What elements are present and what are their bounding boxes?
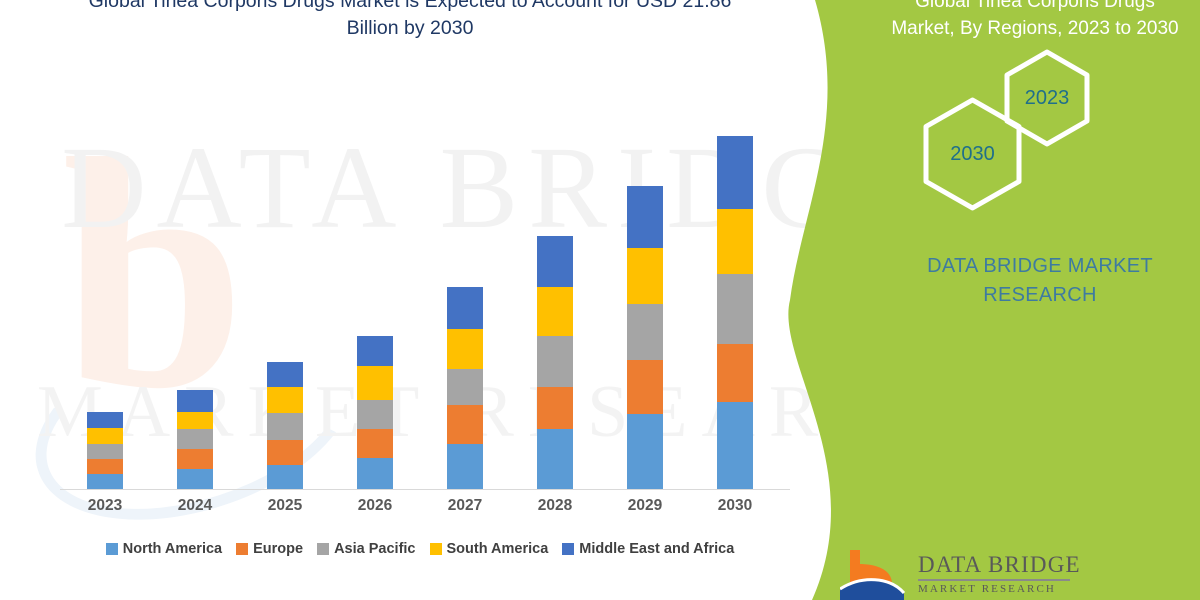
bar-segment [627, 304, 663, 360]
bar-column [150, 110, 240, 490]
brand-name-line-1: DATA BRIDGE MARKET [890, 252, 1190, 281]
brand-panel: Global Tinea Corporis Drugs Market, By R… [780, 0, 1200, 600]
bar-segment [717, 209, 753, 274]
databridge-logo-line-2: MARKET RESEARCH [918, 583, 1081, 595]
databridge-logo-mark [840, 548, 906, 600]
bar-column [60, 110, 150, 490]
databridge-logo-rule [918, 579, 1070, 581]
stacked-bar [177, 390, 213, 490]
brand-name-line-2: RESEARCH [890, 281, 1190, 310]
x-axis-tick-label: 2024 [150, 497, 240, 515]
bar-segment [717, 136, 753, 209]
bar-segment [357, 429, 393, 458]
bar-segment [267, 362, 303, 387]
x-axis-tick-label: 2027 [420, 497, 510, 515]
bar-column [240, 110, 330, 490]
legend-item[interactable]: Europe [236, 541, 303, 557]
bar-segment [267, 465, 303, 490]
stacked-bar [267, 362, 303, 490]
bar-column [510, 110, 600, 490]
bar-segment [177, 429, 213, 449]
legend-item[interactable]: South America [430, 541, 549, 557]
legend-label: Middle East and Africa [579, 541, 734, 557]
hexagon-start-year-label: 2023 [1002, 48, 1092, 148]
bar-segment [447, 329, 483, 369]
bar-segment [87, 428, 123, 444]
stacked-bar [627, 186, 663, 490]
bar-segment [357, 336, 393, 366]
stacked-bar [537, 236, 573, 490]
infographic-canvas: b DATA BRIDGE MARKET RESEARCH Global Tin… [0, 0, 1200, 600]
databridge-logo-line-1: DATA BRIDGE [918, 552, 1081, 578]
bar-segment [87, 444, 123, 459]
bar-segment [177, 449, 213, 469]
bar-segment [717, 402, 753, 490]
bar-segment [87, 412, 123, 428]
bar-group [60, 110, 780, 490]
x-axis-tick-label: 2028 [510, 497, 600, 515]
stacked-bar [357, 336, 393, 490]
bar-segment [537, 287, 573, 336]
bar-segment [177, 412, 213, 429]
bar-segment [627, 414, 663, 490]
databridge-logo: DATA BRIDGE MARKET RESEARCH [840, 548, 1160, 600]
legend-item[interactable]: Asia Pacific [317, 541, 415, 557]
legend-label: Europe [253, 541, 303, 557]
brand-name: DATA BRIDGE MARKET RESEARCH [890, 252, 1190, 310]
bar-segment [87, 474, 123, 490]
bar-segment [357, 458, 393, 490]
legend-item[interactable]: Middle East and Africa [562, 541, 734, 557]
legend-item[interactable]: North America [106, 541, 222, 557]
bar-segment [357, 366, 393, 400]
bar-segment [87, 459, 123, 474]
databridge-logo-text: DATA BRIDGE MARKET RESEARCH [918, 552, 1081, 595]
bar-segment [627, 248, 663, 304]
bar-segment [537, 236, 573, 287]
legend-swatch-icon [106, 543, 118, 555]
bar-segment [627, 186, 663, 248]
bar-segment [357, 400, 393, 429]
bar-column [330, 110, 420, 490]
x-axis-tick-label: 2026 [330, 497, 420, 515]
bar-segment [447, 444, 483, 490]
bar-column [600, 110, 690, 490]
chart-legend: North AmericaEuropeAsia PacificSouth Ame… [55, 541, 785, 557]
stacked-bar [717, 136, 753, 490]
bar-segment [447, 405, 483, 444]
legend-label: Asia Pacific [334, 541, 415, 557]
bar-column [690, 110, 780, 490]
bar-segment [267, 440, 303, 465]
legend-swatch-icon [430, 543, 442, 555]
bar-segment [447, 287, 483, 329]
chart-title: Global Tinea Corporis Drugs Market is Ex… [60, 0, 760, 42]
hexagon-start-year: 2023 [1002, 48, 1092, 148]
bar-segment [267, 387, 303, 413]
legend-label: North America [123, 541, 222, 557]
bar-segment [717, 274, 753, 344]
chart-plot-area [60, 110, 780, 490]
bar-segment [717, 344, 753, 402]
x-axis-tick-label: 2029 [600, 497, 690, 515]
legend-swatch-icon [562, 543, 574, 555]
stacked-bar [87, 412, 123, 490]
x-axis-tick-label: 2025 [240, 497, 330, 515]
bar-segment [627, 360, 663, 414]
bar-segment [267, 413, 303, 440]
legend-swatch-icon [236, 543, 248, 555]
panel-title: Global Tinea Corporis Drugs Market, By R… [885, 0, 1185, 42]
legend-label: South America [447, 541, 549, 557]
bar-segment [537, 429, 573, 490]
bar-segment [537, 336, 573, 387]
bar-segment [537, 387, 573, 429]
bar-segment [177, 390, 213, 412]
x-axis-tick-label: 2023 [60, 497, 150, 515]
bar-column [420, 110, 510, 490]
legend-swatch-icon [317, 543, 329, 555]
x-axis-tick-label: 2030 [690, 497, 780, 515]
x-axis-labels: 20232024202520262027202820292030 [60, 497, 780, 515]
bar-segment [177, 469, 213, 490]
axis-baseline [60, 489, 790, 490]
stacked-bar [447, 287, 483, 490]
bar-segment [447, 369, 483, 405]
